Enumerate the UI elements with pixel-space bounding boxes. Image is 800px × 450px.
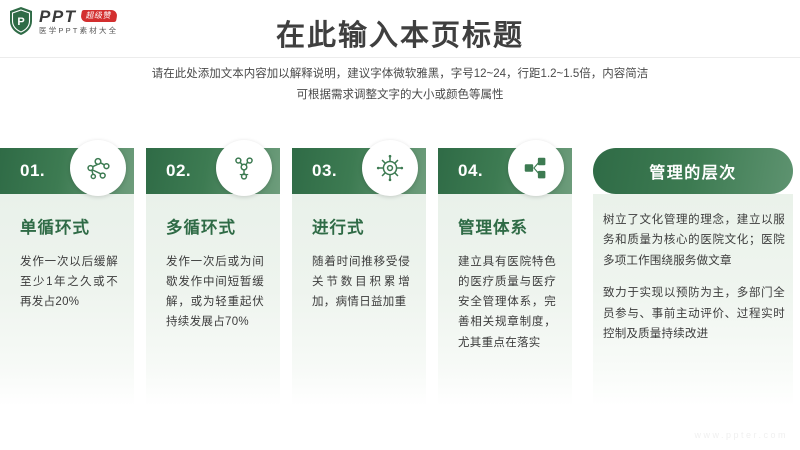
card-02-title: 多循环式 — [166, 214, 264, 238]
page-subtitle: 请在此处添加文本内容加以解释说明，建议字体微软雅黑，字号12~24，行距1.2~… — [0, 64, 800, 107]
card-01-body: 单循环式 发作一次以后缓解至少1年之久或不再发占20% — [0, 194, 134, 406]
summary-panel-header: 管理的层次 — [593, 148, 793, 194]
card-01[interactable]: 01. 单循环式 发作一次以后缓解至少1年之久或不再发占20% — [0, 148, 134, 406]
card-04-number: 04. — [458, 161, 483, 181]
card-03-body: 进行式 随着时间推移受侵关节数目积累增加，病情日益加重 — [292, 194, 426, 406]
virus-icon — [362, 140, 418, 196]
card-03-title: 进行式 — [312, 214, 410, 238]
page-title: 在此输入本页标题 — [0, 12, 800, 54]
card-03-text: 随着时间推移受侵关节数目积累增加，病情日益加重 — [312, 252, 410, 312]
card-02-body: 多循环式 发作一次后或为间歇发作中间短暂缓解，或为轻重起伏持续发展占70% — [146, 194, 280, 406]
summary-paragraph-1: 树立了文化管理的理念，建立以服务和质量为核心的医院文化；医院多项工作围绕服务做文… — [603, 210, 785, 271]
molecule-branch-icon — [216, 140, 272, 196]
footer-watermark: www.ppter.com — [694, 430, 788, 440]
card-02[interactable]: 02. 多循环式 发作一次后或为间歇发作中间短暂缓解，或为轻重起伏持续发展占70… — [146, 148, 280, 406]
card-01-title: 单循环式 — [20, 214, 118, 238]
card-01-text: 发作一次以后缓解至少1年之久或不再发占20% — [20, 252, 118, 312]
summary-paragraph-2: 致力于实现以预防为主，多部门全员参与、事前主动评价、过程实时控制及质量持续改进 — [603, 283, 785, 344]
card-04[interactable]: 04. 管理体系 建立具有医院特色的医疗质量与医疗安全管理体系，完善相关规章制度… — [438, 148, 572, 406]
card-03-header: 03. — [292, 148, 426, 194]
summary-panel-title: 管理的层次 — [649, 159, 737, 183]
card-04-header: 04. — [438, 148, 572, 194]
molecule-network-icon — [70, 140, 126, 196]
card-02-text: 发作一次后或为间歇发作中间短暂缓解，或为轻重起伏持续发展占70% — [166, 252, 264, 333]
card-04-body: 管理体系 建立具有医院特色的医疗质量与医疗安全管理体系，完善相关规章制度，尤其重… — [438, 194, 572, 406]
summary-panel-body: 树立了文化管理的理念，建立以服务和质量为核心的医院文化；医院多项工作围绕服务做文… — [593, 194, 793, 406]
card-02-header: 02. — [146, 148, 280, 194]
subtitle-line-1: 请在此处添加文本内容加以解释说明，建议字体微软雅黑，字号12~24，行距1.2~… — [0, 64, 800, 85]
card-04-title: 管理体系 — [458, 214, 556, 238]
subtitle-line-2: 可根据需求调整文字的大小或颜色等属性 — [0, 85, 800, 106]
card-02-number: 02. — [166, 161, 191, 181]
card-strip: 01. 单循环式 发作一次以后缓解至少1年之久或不再发占20% 02. — [0, 148, 800, 406]
card-01-number: 01. — [20, 161, 45, 181]
title-divider — [0, 57, 800, 58]
share-node-icon — [508, 140, 564, 196]
card-04-text: 建立具有医院特色的医疗质量与医疗安全管理体系，完善相关规章制度，尤其重点在落实 — [458, 252, 556, 353]
summary-panel[interactable]: 管理的层次 树立了文化管理的理念，建立以服务和质量为核心的医院文化；医院多项工作… — [593, 148, 793, 406]
card-03-number: 03. — [312, 161, 337, 181]
card-01-header: 01. — [0, 148, 134, 194]
card-03[interactable]: 03. 进行式 随着时间推移受侵关节数目积累增加，病情日益加重 — [292, 148, 426, 406]
